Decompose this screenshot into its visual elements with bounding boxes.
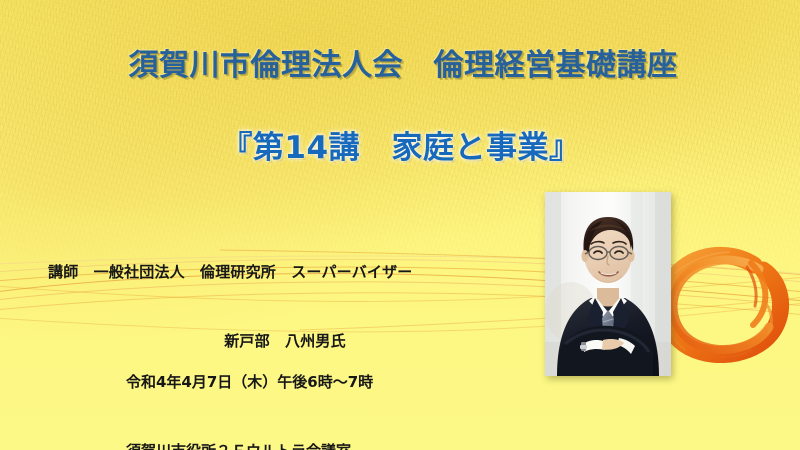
schedule-info: 令和4年4月7日（木）午後6時～7時 須賀川市役所２Ｆウルトラ会議室 (126, 324, 456, 450)
seminar-slide: 須賀川市倫理法人会 倫理経営基礎講座 『第14講 家庭と事業』 講師 一般社団法… (0, 0, 800, 450)
schedule-datetime: 令和4年4月7日（木）午後6時～7時 (126, 371, 456, 394)
page-subtitle: 『第14講 家庭と事業』 (0, 122, 800, 167)
lecturer-portrait-photo (545, 192, 671, 376)
page-title: 須賀川市倫理法人会 倫理経営基礎講座 (0, 40, 800, 84)
enso-brush-circle-icon (655, 243, 800, 363)
lecturer-affiliation: 講師 一般社団法人 倫理研究所 スーパーバイザー (48, 261, 478, 284)
schedule-venue: 須賀川市役所２Ｆウルトラ会議室 (126, 440, 456, 450)
